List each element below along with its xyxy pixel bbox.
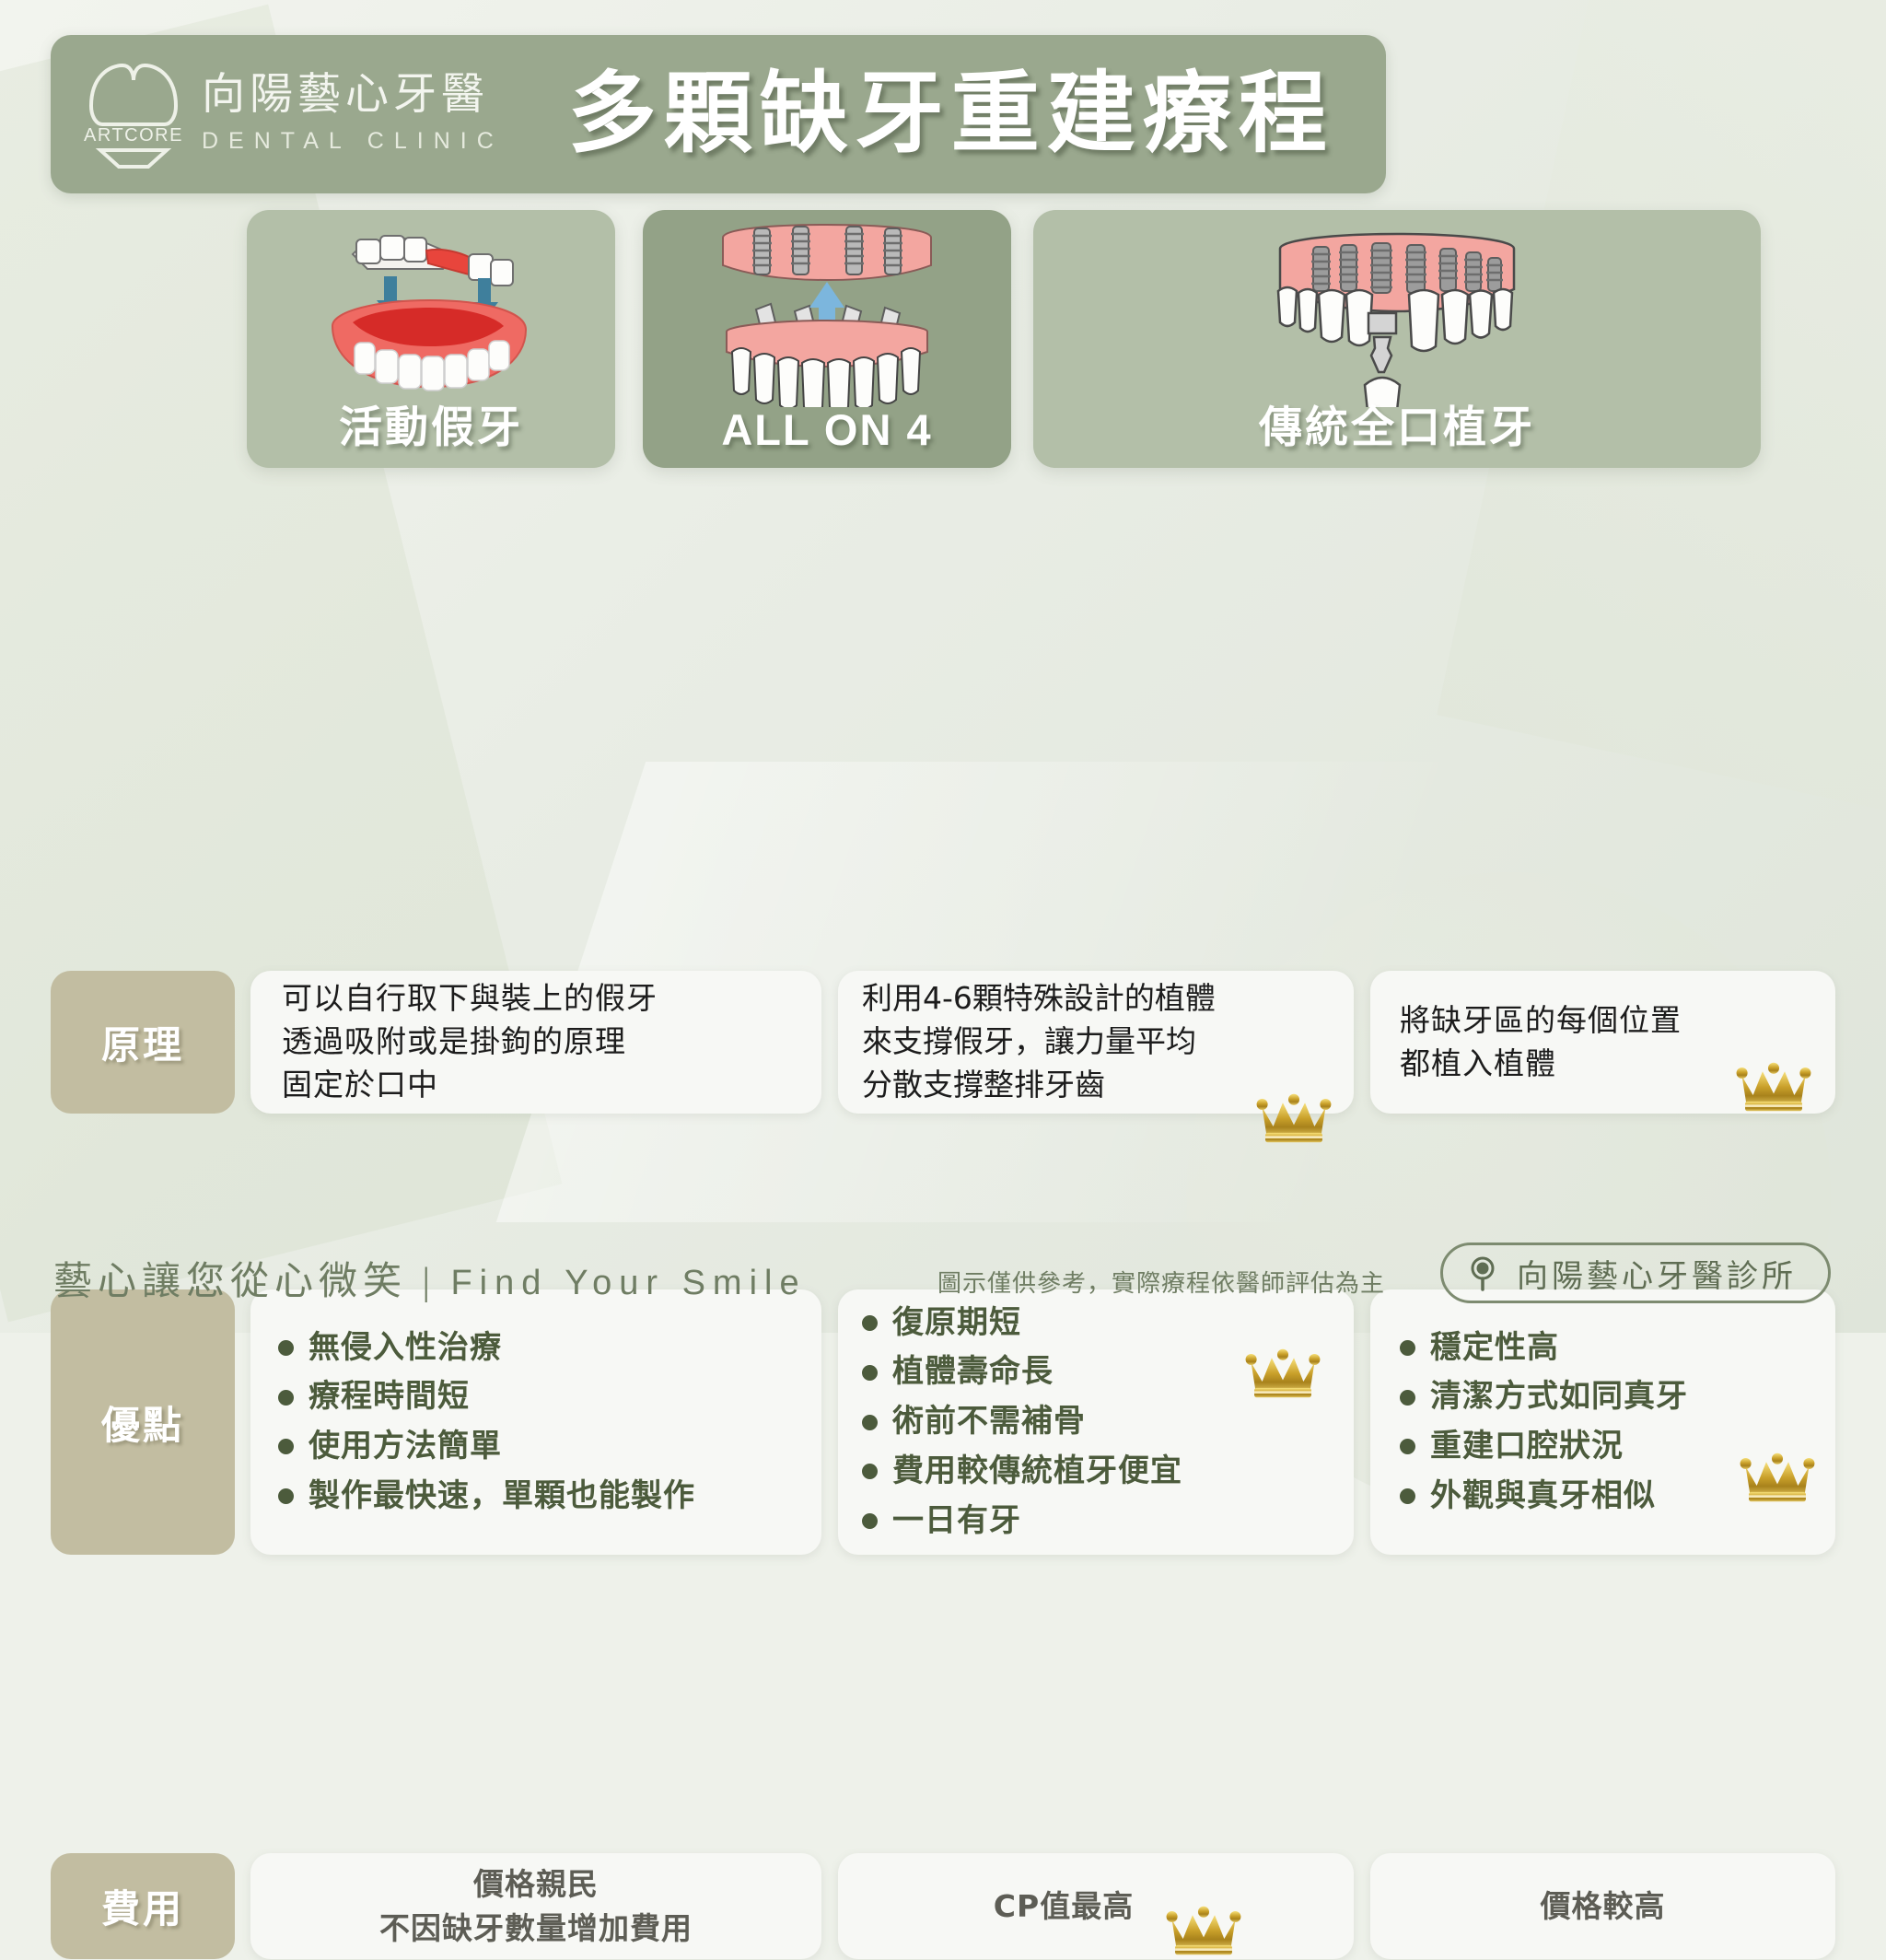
crown-icon — [1164, 1896, 1243, 1960]
bullet-dot-icon — [278, 1340, 294, 1356]
fee-denture-line-1: 價格親民 — [250, 1862, 821, 1907]
cell-fee-denture: 價格親民 不因缺牙數量增加費用 — [250, 1853, 821, 1959]
bullet-dot-icon — [1400, 1340, 1415, 1356]
column-header-all-on-4: ALL ON 4 — [643, 210, 1011, 468]
column-headers: 活動假牙 — [0, 210, 1886, 468]
bullet-dot-icon — [278, 1439, 294, 1454]
all-on-4-implant-illustration — [643, 223, 1011, 407]
artcore-tooth-logo-icon: ARTCORE — [82, 60, 185, 169]
fee-all-on-4-line-1: CP值最高 — [838, 1884, 1354, 1929]
footer: 藝心讓您從心微笑 | Find Your Smile 圖示僅供參考，實際療程依醫… — [0, 1222, 1886, 1333]
clinic-logo: ARTCORE 向陽藝心牙醫 DENTAL CLINIC — [82, 60, 504, 169]
clinic-name-badge-label: 向陽藝心牙醫診所 — [1517, 1251, 1797, 1296]
crown-icon — [1243, 1338, 1322, 1403]
row-advantages: 優點 無侵入性治療 療程時間短 使用方法簡單 製作最快速，單顆也能製作 復原期短… — [0, 645, 1886, 910]
row-principle: 原理 可以自行取下與裝上的假牙 透過吸附或是掛鉤的原理 固定於口中 利用4-6顆… — [0, 485, 1886, 628]
header-band: ARTCORE 向陽藝心牙醫 DENTAL CLINIC 多顆缺牙重建療程 — [51, 35, 1386, 193]
page-title: 多顆缺牙重建療程 — [568, 70, 1334, 158]
bullet-dot-icon — [278, 1488, 294, 1504]
footer-slogan-en: Find Your Smile — [450, 1264, 806, 1302]
column-label-denture: 活動假牙 — [339, 391, 523, 455]
list-item: 使用方法簡單 — [278, 1430, 821, 1464]
bullet-dot-icon — [862, 1464, 878, 1479]
footer-slogan-cn: 藝心讓您從心微笑 — [53, 1261, 407, 1303]
brand-name-cn: 向陽藝心牙醫 — [202, 74, 504, 117]
bullet-dot-icon — [862, 1365, 878, 1381]
list-item: 費用較傳統植牙便宜 — [862, 1455, 1354, 1488]
full-arch-implant-illustration — [1033, 223, 1761, 407]
bullet-dot-icon — [278, 1390, 294, 1406]
cell-fee-full-implant: 價格較高 — [1370, 1853, 1835, 1959]
bullet-dot-icon — [1400, 1439, 1415, 1454]
column-label-full-implant: 傳統全口植牙 — [1259, 391, 1535, 455]
bullet-dot-icon — [862, 1513, 878, 1529]
row-label-fee: 費用 — [51, 1853, 235, 1959]
cell-fee-all-on-4: CP值最高 — [838, 1853, 1354, 1959]
list-item: 製作最快速，單顆也能製作 — [278, 1480, 821, 1513]
footer-slogan: 藝心讓您從心微笑 | Find Your Smile — [53, 1250, 807, 1306]
list-item: 清潔方式如同真牙 — [1400, 1381, 1835, 1414]
crown-icon — [1734, 1052, 1813, 1116]
crown-icon — [1738, 1442, 1817, 1507]
advantages-denture-list: 無侵入性治療 療程時間短 使用方法簡單 製作最快速，單顆也能製作 — [278, 1332, 821, 1513]
bullet-dot-icon — [862, 1415, 878, 1430]
row-fee: 費用 價格親民 不因缺牙數量增加費用 CP值最高 價格較高 — [0, 927, 1886, 1032]
column-header-full-implant: 傳統全口植牙 — [1033, 210, 1761, 468]
list-item: 一日有牙 — [862, 1505, 1354, 1538]
fee-full-implant-line-1: 價格較高 — [1370, 1884, 1835, 1929]
crown-icon — [1254, 1083, 1333, 1148]
footer-disclaimer: 圖示僅供參考，實際療程依醫師評估為主 — [937, 1265, 1385, 1299]
magnifier-icon — [1467, 1254, 1502, 1291]
bullet-dot-icon — [1400, 1488, 1415, 1504]
removable-denture-illustration — [247, 223, 615, 407]
list-item: 穩定性高 — [1400, 1332, 1835, 1365]
footer-slogan-separator: | — [423, 1261, 436, 1303]
column-label-all-on-4: ALL ON 4 — [721, 404, 932, 455]
list-item: 無侵入性治療 — [278, 1332, 821, 1365]
principle-denture-line-3: 固定於口中 — [282, 1064, 821, 1107]
fee-denture-line-2: 不因缺牙數量增加費用 — [250, 1907, 821, 1951]
clinic-name-badge[interactable]: 向陽藝心牙醫診所 — [1440, 1242, 1831, 1303]
brand-text: 向陽藝心牙醫 DENTAL CLINIC — [202, 74, 504, 155]
list-item: 術前不需補骨 — [862, 1406, 1354, 1439]
svg-text:ARTCORE: ARTCORE — [84, 125, 183, 146]
bullet-dot-icon — [1400, 1390, 1415, 1406]
column-header-denture: 活動假牙 — [247, 210, 615, 468]
brand-name-en: DENTAL CLINIC — [202, 128, 504, 155]
list-item: 療程時間短 — [278, 1381, 821, 1414]
